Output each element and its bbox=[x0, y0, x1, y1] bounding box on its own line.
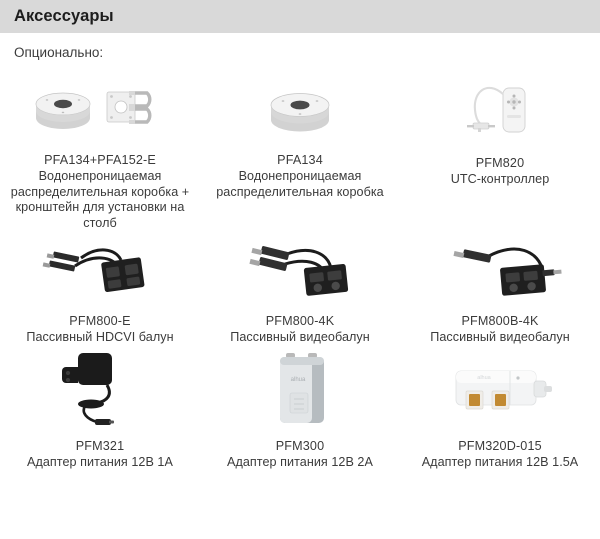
accessory-description: Адаптер питания 12В 2А bbox=[223, 455, 377, 471]
accessory-model: PFA134+PFA152-E bbox=[44, 153, 156, 168]
accessory-item-pfm800-e[interactable]: PFM800-E Пассивный HDCVI балун bbox=[0, 231, 200, 346]
accessory-model: PFM800-4K bbox=[266, 314, 335, 329]
waterproof-power-adapter-image: alhua bbox=[400, 346, 600, 434]
accessory-row: PFM321 Адаптер питания 12В 1А alhua bbox=[0, 346, 600, 471]
utc-controller-image bbox=[400, 70, 600, 140]
accessory-item-pfm800b-4k[interactable]: PFM800B-4K Пассивный видеобалун bbox=[400, 231, 600, 346]
accessory-model: PFM800B-4K bbox=[461, 314, 538, 329]
accessory-item-pfm820[interactable]: PFM820 UTC-контроллер bbox=[400, 70, 600, 231]
svg-text:alhua: alhua bbox=[477, 375, 491, 381]
accessory-item-pfm300[interactable]: alhua PFM300 Адаптер питания 12В 2А bbox=[200, 346, 400, 471]
section-header: Аксессуары bbox=[0, 0, 600, 33]
accessory-description: Пассивный видеобалун bbox=[226, 330, 374, 346]
subtitle-label: Опционально: bbox=[0, 33, 600, 60]
accessory-item-pfm321[interactable]: PFM321 Адаптер питания 12В 1А bbox=[0, 346, 200, 471]
junction-box-image bbox=[200, 70, 400, 148]
accessory-row: PFA134+PFA152-E Водонепроницаемая распре… bbox=[0, 70, 600, 231]
accessory-model: PFA134 bbox=[277, 153, 323, 168]
accessory-model: PFM320D-015 bbox=[458, 439, 542, 454]
outdoor-power-supply-image: alhua bbox=[200, 346, 400, 434]
accessory-model: PFM800-E bbox=[69, 314, 130, 329]
accessory-description: Водонепроницаемая распределительная коро… bbox=[0, 169, 200, 231]
page-title: Аксессуары bbox=[14, 7, 114, 26]
accessory-model: PFM300 bbox=[276, 439, 325, 454]
accessory-model: PFM321 bbox=[76, 439, 125, 454]
accessory-item-pfm320d-015[interactable]: alhua PFM320D-015 Адаптер питания 12В 1.… bbox=[400, 346, 600, 471]
accessory-description: Пассивный видеобалун bbox=[426, 330, 574, 346]
accessory-item-pfa134[interactable]: PFA134 Водонепроницаемая распределительн… bbox=[200, 70, 400, 231]
accessory-row: PFM800-E Пассивный HDCVI балун bbox=[0, 231, 600, 346]
wall-plug-power-adapter-image bbox=[0, 346, 200, 434]
svg-text:alhua: alhua bbox=[291, 377, 306, 383]
junction-box-with-pole-bracket-image bbox=[0, 70, 200, 148]
accessory-description: Пассивный HDCVI балун bbox=[22, 330, 177, 346]
accessory-item-pfm800-4k[interactable]: PFM800-4K Пассивный видеобалун bbox=[200, 231, 400, 346]
accessory-item-pfa134-pfa152e[interactable]: PFA134+PFA152-E Водонепроницаемая распре… bbox=[0, 70, 200, 231]
hdcvi-balun-pair-image bbox=[0, 231, 200, 309]
video-balun-pair-image bbox=[200, 231, 400, 309]
accessory-description: Водонепроницаемая распределительная коро… bbox=[200, 169, 400, 200]
accessory-description: Адаптер питания 12В 1.5А bbox=[418, 455, 583, 471]
accessory-model: PFM820 bbox=[476, 156, 525, 171]
accessory-description: Адаптер питания 12В 1А bbox=[23, 455, 177, 471]
accessory-description: UTC-контроллер bbox=[447, 172, 554, 188]
accessories-grid: PFA134+PFA152-E Водонепроницаемая распре… bbox=[0, 70, 600, 470]
video-balun-b-pair-image bbox=[400, 231, 600, 309]
